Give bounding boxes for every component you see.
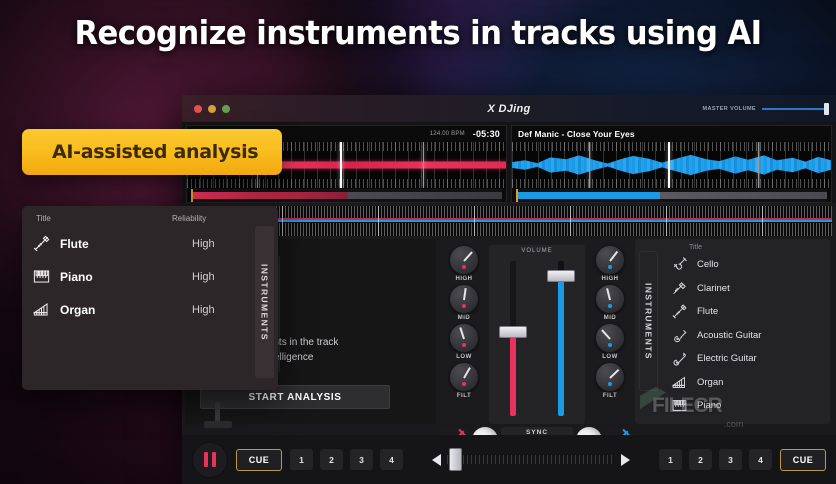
knob-filt-right[interactable] — [595, 362, 625, 392]
list-item[interactable]: Flute — [663, 300, 830, 324]
list-item-label: Clarinet — [697, 283, 730, 294]
list-item-label: Organ — [697, 377, 723, 388]
nudge-right-icon[interactable] — [621, 454, 630, 466]
eq-column-left: HIGH MID LOW FILT — [443, 245, 485, 424]
cue-button-right[interactable]: CUE — [780, 449, 826, 471]
fader-left[interactable] — [496, 261, 530, 416]
list-item[interactable]: Clarinet — [663, 277, 830, 301]
table-row[interactable]: Organ High — [22, 293, 278, 326]
nudge-left-icon[interactable] — [432, 454, 441, 466]
knob-high-right-label: HIGH — [602, 276, 619, 282]
hotcue-4-right[interactable]: 4 — [749, 449, 772, 470]
detected-instruments-panel: Title Reliability Flute High Piano High … — [22, 206, 278, 390]
row-name: Piano — [60, 270, 192, 284]
flute-icon — [671, 303, 688, 320]
knob-filt-left-label: FILT — [457, 393, 471, 399]
knob-filt-left[interactable] — [449, 362, 479, 392]
deck-left-time: -05:30 — [473, 129, 500, 139]
electric-guitar-icon — [671, 350, 688, 367]
transport-bar: CUE 1 2 3 4 1 2 3 4 CUE — [182, 435, 836, 484]
crossfader-handle[interactable] — [449, 448, 462, 471]
knob-high-right[interactable] — [595, 245, 625, 275]
deck-right-info: Def Manic - Close Your Eyes — [512, 126, 831, 142]
hotcue-3-right[interactable]: 3 — [719, 449, 742, 470]
organ-icon — [671, 374, 688, 391]
volume-faders: VOLUME — [489, 245, 585, 424]
knob-mid-left[interactable] — [449, 284, 479, 314]
instruments-tab-right-label: INSTRUMENTS — [644, 283, 654, 360]
knob-mid-right[interactable] — [595, 284, 625, 314]
volume-label: VOLUME — [489, 248, 585, 254]
hotcue-1-left[interactable]: 1 — [290, 449, 313, 470]
instruments-tab-overlay-label: INSTRUMENTS — [260, 264, 270, 341]
deck-right-track-title: Def Manic - Close Your Eyes — [518, 129, 635, 139]
master-volume-label: MASTER VOLUME — [703, 106, 756, 112]
hotcue-3-left[interactable]: 3 — [350, 449, 373, 470]
main-work-area: INSTRUMENTS Identify instruments in the … — [182, 239, 836, 424]
deck-left-bpm: 124.00 BPM — [430, 131, 465, 137]
list-item[interactable]: Piano — [663, 394, 830, 418]
mixer-panel: HIGH MID LOW FILT VOLUME — [439, 239, 635, 424]
piano-icon — [671, 397, 688, 414]
list-item-label: Flute — [697, 306, 718, 317]
cue-button-left[interactable]: CUE — [236, 449, 282, 471]
ai-assisted-analysis-badge: AI-assisted analysis — [22, 129, 282, 175]
tonearm-icon — [204, 402, 232, 428]
master-volume-control[interactable]: MASTER VOLUME — [703, 106, 826, 112]
list-item-label: Cello — [697, 259, 719, 270]
knob-filt-right-label: FILT — [603, 393, 617, 399]
fader-right-handle[interactable] — [547, 270, 575, 282]
list-item-label: Acoustic Guitar — [697, 330, 761, 341]
hotcue-4-left[interactable]: 4 — [380, 449, 403, 470]
table-row[interactable]: Piano High — [22, 260, 278, 293]
row-name: Flute — [60, 237, 192, 251]
list-item[interactable]: Cello — [663, 253, 830, 277]
list-item-label: Electric Guitar — [697, 353, 757, 364]
knob-mid-left-label: MID — [458, 315, 471, 321]
list-item[interactable]: Acoustic Guitar — [663, 324, 830, 348]
knob-high-left-label: HIGH — [456, 276, 473, 282]
detected-columns-header: Title Reliability — [22, 206, 278, 227]
master-volume-handle[interactable] — [824, 103, 829, 115]
instruments-tab-overlay[interactable]: INSTRUMENTS — [255, 226, 274, 378]
mixer-and-instruments: HIGH MID LOW FILT VOLUME — [439, 239, 832, 424]
page-title: Recognize instruments in tracks using AI — [29, 2, 806, 62]
table-row[interactable]: Flute High — [22, 227, 278, 260]
hotcues-right: 1 2 3 4 — [659, 449, 772, 470]
knob-low-right[interactable] — [595, 323, 625, 353]
acoustic-guitar-icon — [671, 327, 688, 344]
hotcue-1-right[interactable]: 1 — [659, 449, 682, 470]
flute-icon — [22, 234, 60, 253]
deck-right-overview[interactable] — [516, 189, 827, 202]
hotcues-left: 1 2 3 4 — [290, 449, 403, 470]
cello-icon — [671, 256, 688, 273]
instruments-list-panel: INSTRUMENTS Title Cello Clarinet Flute — [635, 239, 830, 424]
beat-grid-strip[interactable] — [186, 206, 832, 236]
window-titlebar: X DJing MASTER VOLUME — [182, 95, 836, 122]
master-volume-slider[interactable] — [762, 108, 826, 110]
knob-high-left[interactable] — [449, 245, 479, 275]
deck-right-waveform[interactable] — [512, 142, 831, 188]
column-reliability: Reliability — [172, 214, 242, 223]
list-item-label: Piano — [697, 400, 721, 411]
crossfader-track[interactable] — [447, 455, 615, 464]
knob-low-left-label: LOW — [456, 354, 472, 360]
instruments-column-header: Title — [663, 239, 830, 253]
hotcue-2-right[interactable]: 2 — [689, 449, 712, 470]
fader-left-handle[interactable] — [499, 326, 527, 338]
knob-mid-right-label: MID — [604, 315, 617, 321]
deck-right: Def Manic - Close Your Eyes — [511, 125, 832, 203]
list-item[interactable]: Electric Guitar — [663, 347, 830, 371]
column-title: Title — [22, 214, 172, 223]
eq-column-right: HIGH MID LOW FILT — [589, 245, 631, 424]
piano-icon — [22, 267, 60, 286]
deck-left-overview[interactable] — [191, 189, 502, 202]
knob-low-right-label: LOW — [602, 354, 618, 360]
list-item[interactable]: Organ — [663, 371, 830, 395]
organ-icon — [22, 300, 60, 319]
clarinet-icon — [671, 280, 688, 297]
row-name: Organ — [60, 303, 192, 317]
instruments-tab-right[interactable]: INSTRUMENTS — [639, 251, 658, 391]
fader-right[interactable] — [544, 261, 578, 416]
pause-button[interactable] — [192, 442, 228, 478]
hotcue-2-left[interactable]: 2 — [320, 449, 343, 470]
crossfader[interactable] — [411, 454, 651, 466]
knob-low-left[interactable] — [449, 323, 479, 353]
